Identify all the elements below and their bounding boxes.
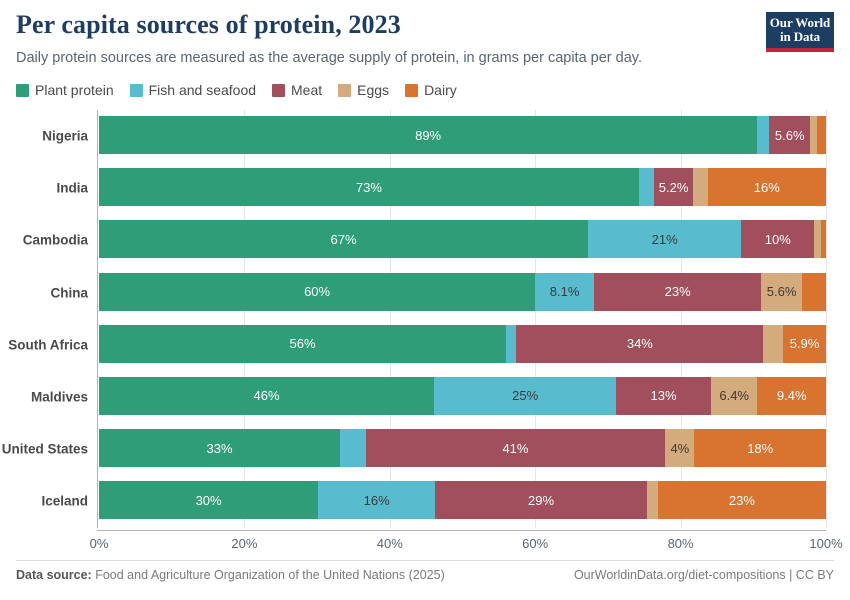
- x-tick-label: 60%: [522, 536, 548, 551]
- bar-row-label[interactable]: United States: [0, 442, 88, 457]
- bar-segment-dairy[interactable]: 9.4%: [757, 377, 825, 415]
- bar-segment-value: 5.6%: [775, 129, 805, 142]
- bar-row: South Africa56%34%5.9%: [0, 319, 850, 371]
- bar-segment-value: 16%: [754, 181, 780, 194]
- legend-swatch-icon: [130, 84, 143, 97]
- bar-segment-meat[interactable]: 5.2%: [654, 168, 692, 206]
- bar-segment-eggs[interactable]: 4%: [665, 429, 694, 467]
- our-world-in-data-logo[interactable]: Our World in Data: [766, 12, 834, 52]
- legend-item-label: Meat: [291, 82, 322, 98]
- legend-swatch-icon: [338, 84, 351, 97]
- stacked-bar: 73%5.2%16%: [99, 168, 826, 206]
- bar-segment-value: 10%: [765, 233, 791, 246]
- legend-swatch-icon: [272, 84, 285, 97]
- bar-row: China60%8.1%23%5.6%: [0, 267, 850, 319]
- bar-segment-dairy[interactable]: [817, 116, 826, 154]
- chart-subtitle: Daily protein sources are measured as th…: [16, 49, 834, 68]
- bar-row: Nigeria89%5.6%: [0, 110, 850, 162]
- bar-segment-value: 89%: [415, 129, 441, 142]
- bar-row: Cambodia67%21%10%: [0, 214, 850, 266]
- bar-segment-plant-protein[interactable]: 33%: [99, 429, 340, 467]
- bar-segment-eggs[interactable]: [647, 481, 658, 519]
- bar-segment-fish-and-seafood[interactable]: 25%: [434, 377, 616, 415]
- bar-segment-fish-and-seafood[interactable]: 8.1%: [535, 273, 594, 311]
- legend-item-plant-protein[interactable]: Plant protein: [16, 82, 114, 98]
- bar-segment-value: 30%: [196, 494, 222, 507]
- legend-swatch-icon: [16, 84, 29, 97]
- bar-segment-plant-protein[interactable]: 46%: [99, 377, 434, 415]
- bar-row: Iceland30%16%29%23%: [0, 475, 850, 527]
- bar-row-label[interactable]: Maldives: [0, 390, 88, 405]
- bar-row-label[interactable]: Iceland: [0, 494, 88, 509]
- bar-segment-value: 73%: [356, 181, 382, 194]
- bar-segment-dairy[interactable]: 18%: [694, 429, 826, 467]
- bar-row: Maldives46%25%13%6.4%9.4%: [0, 371, 850, 423]
- bar-segment-value: 8.1%: [550, 285, 580, 298]
- bar-segment-value: 9.4%: [777, 389, 807, 402]
- attribution-link[interactable]: OurWorldinData.org/diet-compositions | C…: [574, 568, 834, 582]
- legend-item-label: Fish and seafood: [149, 82, 256, 98]
- bar-segment-value: 33%: [207, 442, 233, 455]
- bar-segment-value: 56%: [290, 337, 316, 350]
- page-title: Per capita sources of protein, 2023: [16, 10, 834, 41]
- legend-item-eggs[interactable]: Eggs: [338, 82, 389, 98]
- bar-segment-value: 60%: [304, 285, 330, 298]
- bar-row-label[interactable]: Cambodia: [0, 233, 88, 248]
- bar-rows: Nigeria89%5.6%India73%5.2%16%Cambodia67%…: [0, 110, 850, 528]
- x-tick-label: 0%: [90, 536, 109, 551]
- chart-container: Per capita sources of protein, 2023 Dail…: [0, 0, 850, 600]
- bar-segment-plant-protein[interactable]: 73%: [99, 168, 639, 206]
- legend-item-meat[interactable]: Meat: [272, 82, 322, 98]
- stacked-bar: 67%21%10%: [99, 220, 826, 258]
- bar-segment-meat[interactable]: 23%: [594, 273, 761, 311]
- bar-segment-value: 46%: [254, 389, 280, 402]
- legend-item-dairy[interactable]: Dairy: [405, 82, 457, 98]
- bar-segment-dairy[interactable]: 23%: [658, 481, 826, 519]
- bar-segment-eggs[interactable]: 5.6%: [761, 273, 802, 311]
- bar-segment-value: 25%: [512, 389, 538, 402]
- logo-line-2: in Data: [780, 30, 820, 44]
- bar-segment-meat[interactable]: 29%: [435, 481, 647, 519]
- bar-segment-eggs[interactable]: [810, 116, 817, 154]
- stacked-bar: 46%25%13%6.4%9.4%: [99, 377, 826, 415]
- chart-legend: Plant proteinFish and seafoodMeatEggsDai…: [16, 82, 457, 98]
- bar-row-label[interactable]: India: [0, 181, 88, 196]
- bar-segment-fish-and-seafood[interactable]: [340, 429, 366, 467]
- bar-segment-value: 67%: [331, 233, 357, 246]
- bar-segment-value: 4%: [670, 442, 689, 455]
- bar-segment-meat[interactable]: 5.6%: [769, 116, 810, 154]
- x-axis-line: [97, 530, 826, 531]
- bar-segment-meat[interactable]: 41%: [366, 429, 666, 467]
- bar-segment-dairy[interactable]: [802, 273, 826, 311]
- chart-footer: Data source: Food and Agriculture Organi…: [16, 568, 834, 582]
- bar-segment-fish-and-seafood[interactable]: [506, 325, 516, 363]
- stacked-bar: 33%41%4%18%: [99, 429, 826, 467]
- bar-segment-value: 16%: [364, 494, 390, 507]
- bar-segment-eggs[interactable]: 6.4%: [711, 377, 758, 415]
- bar-segment-fish-and-seafood[interactable]: 16%: [318, 481, 435, 519]
- stacked-bar: 89%5.6%: [99, 116, 826, 154]
- bar-segment-value: 5.9%: [790, 337, 820, 350]
- stacked-bar: 60%8.1%23%5.6%: [99, 273, 826, 311]
- bar-segment-eggs[interactable]: [693, 168, 708, 206]
- bar-segment-meat[interactable]: 10%: [741, 220, 814, 258]
- bar-segment-dairy[interactable]: 5.9%: [783, 325, 826, 363]
- bar-segment-value: 41%: [502, 442, 528, 455]
- bar-row-label[interactable]: China: [0, 285, 88, 300]
- legend-item-label: Eggs: [357, 82, 389, 98]
- bar-segment-value: 5.6%: [767, 285, 797, 298]
- bar-row-label[interactable]: Nigeria: [0, 129, 88, 144]
- bar-segment-fish-and-seafood[interactable]: [757, 116, 769, 154]
- bar-segment-value: 21%: [652, 233, 678, 246]
- stacked-bar: 30%16%29%23%: [99, 481, 826, 519]
- legend-item-label: Plant protein: [35, 82, 114, 98]
- bar-segment-meat[interactable]: 13%: [616, 377, 711, 415]
- bar-segment-value: 5.2%: [659, 181, 689, 194]
- bar-segment-fish-and-seafood[interactable]: 21%: [588, 220, 741, 258]
- bar-segment-plant-protein[interactable]: 89%: [99, 116, 757, 154]
- bar-segment-value: 6.4%: [719, 389, 749, 402]
- bar-segment-plant-protein[interactable]: 67%: [99, 220, 588, 258]
- bar-segment-plant-protein[interactable]: 60%: [99, 273, 535, 311]
- bar-segment-value: 18%: [747, 442, 773, 455]
- x-tick-label: 80%: [668, 536, 694, 551]
- legend-item-label: Dairy: [424, 82, 457, 98]
- chart-header: Per capita sources of protein, 2023 Dail…: [16, 10, 834, 68]
- legend-item-fish-and-seafood[interactable]: Fish and seafood: [130, 82, 256, 98]
- bar-segment-value: 23%: [665, 285, 691, 298]
- data-source-text: Food and Agriculture Organization of the…: [95, 568, 445, 582]
- x-tick-label: 100%: [809, 536, 842, 551]
- bar-segment-value: 29%: [528, 494, 554, 507]
- bar-segment-plant-protein[interactable]: 56%: [99, 325, 506, 363]
- legend-swatch-icon: [405, 84, 418, 97]
- footer-divider: [16, 560, 834, 561]
- data-source: Data source: Food and Agriculture Organi…: [16, 568, 445, 582]
- x-tick-label: 40%: [377, 536, 403, 551]
- bar-segment-fish-and-seafood[interactable]: [639, 168, 655, 206]
- x-axis: 0%20%40%60%80%100%: [0, 530, 850, 554]
- bar-segment-dairy[interactable]: [821, 220, 826, 258]
- bar-row: United States33%41%4%18%: [0, 423, 850, 475]
- bar-segment-value: 34%: [627, 337, 653, 350]
- bar-segment-value: 13%: [651, 389, 677, 402]
- bar-segment-dairy[interactable]: 16%: [708, 168, 826, 206]
- bar-row: India73%5.2%16%: [0, 162, 850, 214]
- x-tick-label: 20%: [231, 536, 257, 551]
- plot-area: Nigeria89%5.6%India73%5.2%16%Cambodia67%…: [0, 110, 850, 530]
- bar-segment-meat[interactable]: 34%: [516, 325, 763, 363]
- bar-segment-plant-protein[interactable]: 30%: [99, 481, 318, 519]
- bar-row-label[interactable]: South Africa: [0, 337, 88, 352]
- bar-segment-value: 23%: [729, 494, 755, 507]
- logo-line-1: Our World: [770, 16, 830, 30]
- stacked-bar: 56%34%5.9%: [99, 325, 826, 363]
- data-source-prefix: Data source:: [16, 568, 92, 582]
- bar-segment-eggs[interactable]: [763, 325, 783, 363]
